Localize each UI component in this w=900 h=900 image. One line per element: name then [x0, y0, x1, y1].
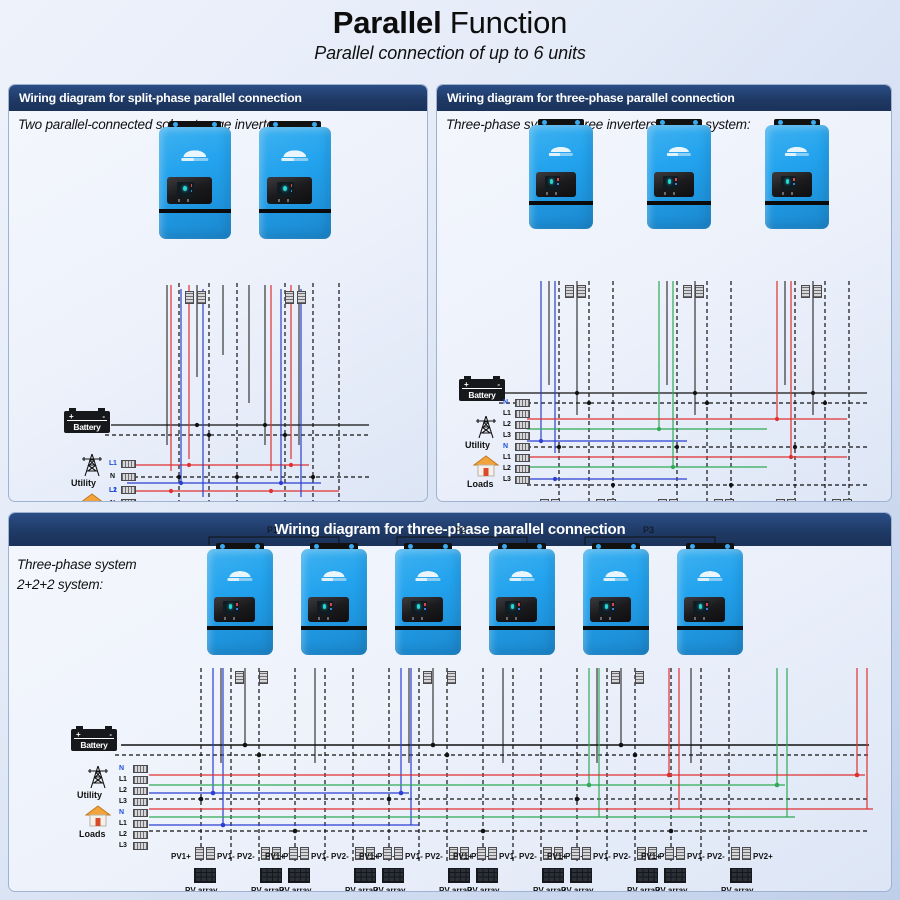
pv-terminal-block — [725, 499, 734, 502]
pv-array-icon — [730, 868, 752, 883]
pv-array-label: PV array — [185, 886, 217, 892]
inverter-vent-band — [259, 209, 331, 213]
pv-array-icon — [194, 868, 216, 883]
pv-terminal-block — [540, 499, 549, 502]
pv-array-icon — [288, 868, 310, 883]
inverter-vent-band — [301, 626, 367, 630]
loads-label: Loads — [79, 829, 106, 839]
split-phase-diagram: + - Battery Utility Loads L1 N L2 — [9, 85, 427, 501]
pv-label-left: PV1+ — [359, 852, 379, 861]
pv-terminal-block — [731, 847, 740, 860]
inverter-lcd-panel[interactable] — [267, 177, 312, 204]
pv-terminal-block — [206, 847, 215, 860]
inverter-lcd-panel[interactable] — [684, 597, 725, 622]
pv-array-icon — [476, 868, 498, 883]
brand-logo-icon — [415, 570, 440, 581]
three-phase-222-diagram: Three-phase system 2+2+2 system: — [9, 513, 891, 891]
inverter-body — [259, 127, 331, 239]
inverter-lcd-panel[interactable] — [402, 597, 443, 622]
inverter-screen — [277, 182, 294, 197]
utility-terminal-block — [133, 798, 148, 806]
pv-array-label: PV array — [655, 886, 687, 892]
inverter-unit[interactable] — [677, 549, 743, 655]
page-title: Parallel Function — [0, 6, 900, 40]
loads-house-icon — [79, 493, 105, 502]
terminal-block — [577, 285, 586, 298]
terminal-block — [695, 285, 704, 298]
loads-terminal-block — [133, 820, 148, 828]
loads-line-label-l2: L2 — [119, 831, 127, 838]
inverter-screen — [223, 601, 239, 615]
inverter-screen — [411, 601, 427, 615]
terminal-block — [447, 671, 456, 684]
inverter-keypad[interactable] — [694, 617, 709, 620]
brand-logo-icon — [603, 570, 628, 581]
utility-terminal-block — [121, 460, 136, 468]
inverter-screen — [663, 176, 678, 190]
battery-icon: + - Battery — [459, 379, 505, 401]
brand-logo-icon — [509, 570, 534, 581]
pv-terminal-block — [832, 499, 841, 502]
loads-line-label-n: N — [110, 500, 115, 502]
pv-label-left: PV1+ — [453, 852, 473, 861]
inverter-keypad[interactable] — [178, 199, 194, 202]
inverter-keypad[interactable] — [782, 192, 796, 195]
battery-label: Battery — [64, 422, 110, 432]
inverter-unit[interactable] — [489, 549, 555, 655]
loads-terminal-block — [133, 842, 148, 850]
loads-terminal-block — [133, 831, 148, 839]
group-label-p1: P1 — [267, 525, 278, 535]
inverter-vent-band — [765, 201, 829, 205]
utility-line-label-l3: L3 — [503, 432, 511, 439]
inverter-lcd-panel[interactable] — [654, 172, 694, 197]
loads-line-label-l1: L1 — [109, 487, 117, 494]
inverter-body — [583, 549, 649, 655]
terminal-block — [635, 671, 644, 684]
pv-array-label: PV array — [721, 886, 753, 892]
pv-terminal-block — [669, 499, 678, 502]
pv-terminal-block — [665, 847, 674, 860]
pv-terminal-block — [477, 847, 486, 860]
terminal-block — [185, 291, 194, 304]
pv-label-left: PV2- — [519, 852, 537, 861]
pv-terminal-block — [843, 499, 852, 502]
utility-terminal-block — [515, 421, 530, 429]
brand-logo-icon — [281, 149, 308, 160]
loads-line-label-l3: L3 — [503, 476, 511, 483]
pv-array-icon — [542, 868, 564, 883]
group-label-p2: P2 — [455, 525, 466, 535]
pv-label-right: PV1- — [217, 852, 235, 861]
inverter-body — [677, 549, 743, 655]
inverter-keypad[interactable] — [224, 617, 239, 620]
loads-terminal-block — [515, 465, 530, 473]
pv-terminal-block — [394, 847, 403, 860]
pv-array-label: PV array — [279, 886, 311, 892]
inverter-body — [395, 549, 461, 655]
loads-terminal-block — [515, 476, 530, 484]
pv-terminal-block — [551, 499, 560, 502]
inverter-screen — [505, 601, 521, 615]
pv-terminal-block — [383, 847, 392, 860]
inverter-keypad[interactable] — [600, 617, 615, 620]
pv-label-left: PV1+ — [547, 852, 567, 861]
pv-array-icon — [664, 868, 686, 883]
battery-minus-label: - — [102, 412, 105, 421]
inverter-keypad[interactable] — [506, 617, 521, 620]
pv-label-left: PV2- — [425, 852, 443, 861]
inverter-keypad[interactable] — [412, 617, 427, 620]
loads-terminal-block — [121, 499, 136, 502]
brand-logo-icon — [667, 146, 691, 156]
loads-line-label-l1: L1 — [119, 820, 127, 827]
utility-terminal-block — [133, 765, 148, 773]
battery-label: Battery — [459, 390, 505, 400]
pv-terminal-block — [714, 499, 723, 502]
brand-logo-icon — [181, 149, 208, 160]
utility-terminal-block — [121, 473, 136, 481]
inverter-unit[interactable] — [647, 125, 711, 229]
utility-tower-icon — [85, 765, 111, 789]
inverter-unit[interactable] — [395, 549, 461, 655]
loads-line-label-l3: L3 — [119, 842, 127, 849]
panel-three-phase-222: Wiring diagram for three-phase parallel … — [8, 512, 892, 892]
inverter-body — [765, 125, 829, 229]
three-phase-diagram: + - Battery Utility Loads N L1 L2 L3 — [437, 85, 891, 501]
inverter-keypad[interactable] — [664, 192, 678, 195]
pv-label-left: PV2- — [707, 852, 725, 861]
loads-house-icon — [85, 805, 111, 827]
page-title-block: Parallel Function Parallel connection of… — [0, 0, 900, 64]
pv-array-icon — [570, 868, 592, 883]
pv-label-left: PV2- — [613, 852, 631, 861]
battery-plus-label: + — [464, 380, 469, 389]
pv-array-icon — [382, 868, 404, 883]
utility-label: Utility — [77, 790, 102, 800]
inverter-lcd-panel[interactable] — [214, 597, 255, 622]
terminal-block — [611, 671, 620, 684]
inverter-body — [159, 127, 231, 239]
inverter-vent-band — [677, 626, 743, 630]
inverter-vent-band — [583, 626, 649, 630]
pv-label-left: PV1+ — [641, 852, 661, 861]
inverter-unit[interactable] — [765, 125, 829, 229]
inverter-vent-band — [647, 201, 711, 205]
brand-logo-icon — [227, 570, 252, 581]
inverter-body — [489, 549, 555, 655]
inverter-screen — [599, 601, 615, 615]
brand-logo-icon — [785, 146, 809, 156]
pv-array-icon — [636, 868, 658, 883]
terminal-block — [813, 285, 822, 298]
inverter-lcd-panel[interactable] — [167, 177, 212, 204]
inverter-body — [529, 125, 593, 229]
inverter-keypad[interactable] — [318, 617, 333, 620]
terminal-block — [565, 285, 574, 298]
terminal-block — [801, 285, 810, 298]
utility-line-label-n: N — [119, 765, 124, 772]
pv-array-icon — [354, 868, 376, 883]
inverter-lcd-panel[interactable] — [496, 597, 537, 622]
loads-terminal-block — [133, 809, 148, 817]
inverter-vent-band — [529, 201, 593, 205]
terminal-block — [285, 291, 294, 304]
pv-array-label: PV array — [561, 886, 593, 892]
inverter-lcd-panel[interactable] — [536, 172, 576, 197]
utility-terminal-block — [515, 432, 530, 440]
pv-label-right: PV1- — [311, 852, 329, 861]
battery-terminals: + - — [67, 413, 107, 421]
loads-line-label-l1: L1 — [503, 454, 511, 461]
inverter-screen — [781, 176, 796, 190]
terminal-block — [235, 671, 244, 684]
pv-array-label: PV array — [373, 886, 405, 892]
battery-terminals: + - — [74, 731, 114, 739]
pv-terminal-block — [571, 847, 580, 860]
inverter-vent-band — [207, 626, 273, 630]
battery-label: Battery — [71, 740, 117, 750]
battery-terminals: + - — [462, 381, 502, 389]
group-label-p3: P3 — [643, 525, 654, 535]
utility-line-label-l2: L2 — [503, 421, 511, 428]
utility-line-label-l1: L1 — [109, 460, 117, 467]
inverter-lcd-panel[interactable] — [308, 597, 349, 622]
battery-icon: + - Battery — [64, 411, 110, 433]
pv-terminal-block — [488, 847, 497, 860]
utility-line-label-l2: L2 — [119, 787, 127, 794]
pv-terminal-block — [787, 499, 796, 502]
utility-line-label-l1: L1 — [119, 776, 127, 783]
utility-tower-icon — [79, 453, 105, 477]
loads-line-label-l2: L2 — [503, 465, 511, 472]
loads-terminal-block — [515, 443, 530, 451]
page-title-bold: Parallel — [333, 5, 442, 40]
terminal-block — [683, 285, 692, 298]
brand-logo-icon — [321, 570, 346, 581]
pv-terminal-block — [607, 499, 616, 502]
pv-terminal-block — [596, 499, 605, 502]
inverter-lcd-panel[interactable] — [590, 597, 631, 622]
pv-array-label: PV array — [467, 886, 499, 892]
battery-plus-label: + — [69, 412, 74, 421]
pv-label-right: PV1- — [593, 852, 611, 861]
brand-logo-icon — [549, 146, 573, 156]
terminal-block — [259, 671, 268, 684]
pv-terminal-block — [658, 499, 667, 502]
utility-terminal-block — [121, 486, 136, 494]
inverter-body — [647, 125, 711, 229]
utility-terminal-block — [133, 776, 148, 784]
utility-line-label-n: N — [503, 399, 508, 406]
inverter-unit[interactable] — [529, 125, 593, 229]
inverter-screen — [545, 176, 560, 190]
utility-terminal-block — [133, 787, 148, 795]
inverter-vent-band — [489, 626, 555, 630]
loads-line-label-n: N — [119, 809, 124, 816]
inverter-lcd-panel[interactable] — [772, 172, 812, 197]
battery-plus-label: + — [76, 730, 81, 739]
pv-terminal-block — [582, 847, 591, 860]
inverter-vent-band — [159, 209, 231, 213]
inverter-unit[interactable] — [583, 549, 649, 655]
battery-minus-label: - — [109, 730, 112, 739]
page-title-regular: Function — [441, 5, 567, 40]
pv-label-right: PV1- — [687, 852, 705, 861]
inverter-screen — [317, 601, 333, 615]
utility-line-label-l3: L3 — [119, 798, 127, 805]
battery-icon: + - Battery — [71, 729, 117, 751]
utility-line-label-n: N — [110, 473, 115, 480]
pv-label-left: PV2- — [331, 852, 349, 861]
inverter-unit[interactable] — [301, 549, 367, 655]
utility-line-label-l1: L1 — [503, 410, 511, 417]
inverter-unit[interactable] — [259, 127, 331, 239]
inverter-body — [301, 549, 367, 655]
utility-tower-icon — [473, 415, 499, 439]
utility-terminal-block — [515, 410, 530, 418]
pv-terminal-block — [289, 847, 298, 860]
pv-terminal-block — [776, 499, 785, 502]
inverter-unit[interactable] — [159, 127, 231, 239]
utility-terminal-block — [515, 399, 530, 407]
inverter-body — [207, 549, 273, 655]
inverter-keypad[interactable] — [546, 192, 560, 195]
pv-label-right: PV1- — [405, 852, 423, 861]
battery-minus-label: - — [497, 380, 500, 389]
pv-label-left: PV2- — [237, 852, 255, 861]
terminal-block — [197, 291, 206, 304]
pv-array-icon — [260, 868, 282, 883]
loads-label: Loads — [467, 479, 494, 489]
loads-line-label-n: N — [503, 443, 508, 450]
panel-split-phase: Wiring diagram for split-phase parallel … — [8, 84, 428, 502]
pv-label-left: PV1+ — [171, 852, 191, 861]
pv-terminal-block — [195, 847, 204, 860]
pv-terminal-block — [742, 847, 751, 860]
inverter-unit[interactable] — [207, 549, 273, 655]
page-subtitle: Parallel connection of up to 6 units — [0, 43, 900, 64]
terminal-block — [297, 291, 306, 304]
pv-label-right: PV2+ — [753, 852, 773, 861]
panel-three-phase: Wiring diagram for three-phase parallel … — [436, 84, 892, 502]
pv-label-left: PV1+ — [265, 852, 285, 861]
pv-label-right: PV1- — [499, 852, 517, 861]
inverter-screen — [177, 182, 194, 197]
inverter-screen — [693, 601, 709, 615]
loads-terminal-block — [515, 454, 530, 462]
pv-terminal-block — [676, 847, 685, 860]
inverter-vent-band — [395, 626, 461, 630]
inverter-keypad[interactable] — [278, 199, 294, 202]
utility-label: Utility — [71, 478, 96, 488]
terminal-block — [423, 671, 432, 684]
brand-logo-icon — [697, 570, 722, 581]
pv-array-icon — [448, 868, 470, 883]
loads-house-icon — [473, 455, 499, 477]
pv-terminal-block — [300, 847, 309, 860]
utility-label: Utility — [465, 440, 490, 450]
